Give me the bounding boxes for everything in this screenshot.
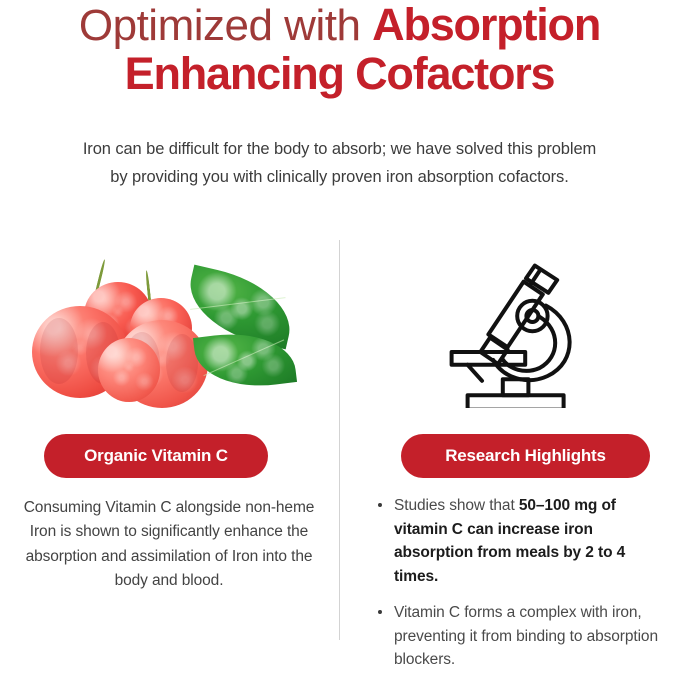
vitamin-c-description: Consuming Vitamin C alongside non-heme I… (14, 496, 324, 594)
vitamin-c-cherry-image (0, 240, 330, 415)
subtitle-line-2: by providing you with clinically proven … (30, 163, 649, 191)
headline-light-text: Optimized with (79, 1, 372, 50)
microscope-icon (434, 248, 594, 408)
column-divider (339, 240, 340, 640)
page-headline: Optimized with Absorption Enhancing Cofa… (0, 2, 679, 97)
headline-bold-text-2: Enhancing Cofactors (125, 48, 555, 99)
headline-line-2: Enhancing Cofactors (0, 51, 679, 97)
subtitle-line-1: Iron can be difficult for the body to ab… (30, 135, 649, 163)
research-highlights-badge-label: Research Highlights (445, 446, 606, 466)
headline-line-1: Optimized with Absorption (0, 2, 679, 49)
bullet-lead-text: Vitamin C forms a complex with iron, pre… (394, 604, 658, 668)
leaf-vein (203, 339, 284, 376)
bullet-lead-text: Studies show that (394, 497, 519, 514)
organic-vitamin-c-badge-label: Organic Vitamin C (84, 446, 228, 466)
cherry (98, 338, 160, 402)
cherry-lobe (40, 318, 78, 384)
headline-bold-text: Absorption (372, 0, 600, 50)
list-item: Studies show that 50–100 mg of vitamin C… (375, 494, 667, 588)
page-subtitle: Iron can be difficult for the body to ab… (30, 135, 649, 192)
research-microscope-image (349, 240, 679, 415)
organic-vitamin-c-badge[interactable]: Organic Vitamin C (44, 434, 268, 478)
leaf-vein (190, 297, 285, 310)
list-item: Vitamin C forms a complex with iron, pre… (375, 601, 667, 672)
research-highlights-badge[interactable]: Research Highlights (401, 434, 650, 478)
research-bullet-list: Studies show that 50–100 mg of vitamin C… (375, 494, 667, 685)
